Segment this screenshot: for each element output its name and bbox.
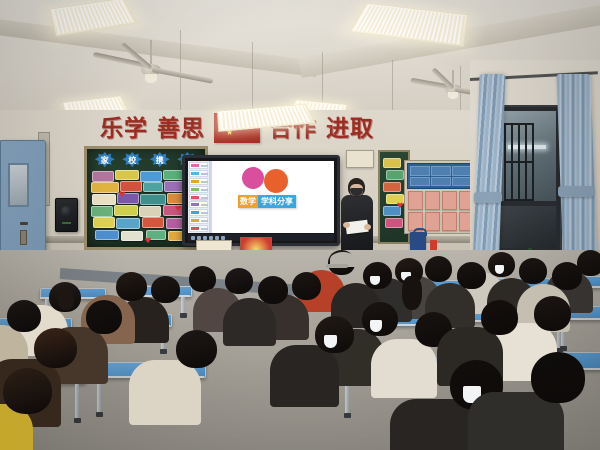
- slide-thumbnail[interactable]: [189, 178, 208, 185]
- speaker-indicator: [62, 222, 71, 224]
- ponytail-audience-member: [58, 286, 76, 312]
- audience-head: [176, 330, 217, 368]
- board-card: [93, 217, 115, 228]
- audience-member: [510, 352, 600, 450]
- slide-thumbnail[interactable]: [189, 209, 208, 216]
- slide-thumbnail[interactable]: [189, 162, 208, 169]
- face-mask: [324, 335, 337, 348]
- audience-torso: [371, 339, 437, 398]
- curtain-tieback[interactable]: [558, 186, 594, 197]
- board-card: [139, 206, 161, 217]
- board-card: [140, 171, 162, 182]
- hair-ponytail: [402, 276, 422, 310]
- bag-handle: [413, 228, 427, 236]
- board-card: [92, 171, 114, 182]
- classroom-photo: 乐学 善思 ★ ★ ★ ★ ★ 合作 进取 家 校 携 手: [0, 0, 600, 450]
- face-mask: [495, 265, 504, 274]
- door-window: [8, 163, 29, 207]
- hair-ponytail: [58, 286, 74, 310]
- fan-light: [448, 92, 458, 99]
- whiteboard-display[interactable]: 数学 学科分享: [188, 161, 334, 233]
- audience-head: [3, 368, 52, 414]
- ceiling-seam: [252, 42, 253, 118]
- audience-torso: [270, 345, 339, 407]
- slide-decor-circle-orange: [264, 169, 288, 193]
- slide-thumbnail-rail[interactable]: [188, 161, 210, 233]
- slogan-word-1: 乐学: [100, 117, 148, 140]
- door-handle[interactable]: [20, 222, 28, 225]
- slide-decor-circle-pink: [242, 167, 264, 189]
- audience-head: [552, 262, 582, 290]
- info-document-sheet: [425, 191, 440, 210]
- audience-head: [481, 300, 518, 335]
- decor-card: [383, 206, 401, 216]
- slide-thumbnail[interactable]: [189, 194, 208, 201]
- audience-head: [534, 296, 571, 331]
- info-header-cell: [452, 177, 472, 187]
- board-title-char-2: 校: [122, 152, 142, 168]
- speaker-driver: [61, 206, 72, 217]
- taskbar-icon[interactable]: [191, 236, 195, 240]
- board-card: [120, 181, 142, 192]
- audience-member: [160, 330, 232, 433]
- fan-rod: [150, 40, 152, 66]
- info-document-sheet: [425, 212, 440, 231]
- slide-title-subject: 数学: [238, 195, 258, 208]
- window-security-bars: [504, 123, 534, 201]
- desk-foot: [96, 412, 103, 417]
- window-pane: [498, 111, 556, 201]
- taskbar-icon[interactable]: [203, 236, 207, 240]
- notice-poster: [346, 150, 374, 168]
- slide-thumbnail[interactable]: [189, 217, 208, 224]
- capped-audience-member: [330, 252, 358, 272]
- audience-member: [0, 368, 71, 450]
- info-header-cell: [410, 166, 430, 176]
- info-document-sheet: [442, 191, 457, 210]
- info-header-cell: [431, 177, 451, 187]
- board-title-char-3: 携: [150, 152, 170, 168]
- curtain-tieback[interactable]: [474, 192, 502, 203]
- info-header-cell: [452, 166, 472, 176]
- info-header-cell: [431, 166, 451, 176]
- audience-member: [300, 316, 369, 415]
- presenter-hand: [343, 222, 350, 228]
- slide-title: 数学 学科分享: [238, 195, 296, 208]
- board-card: [140, 194, 166, 205]
- board-card: [114, 205, 138, 216]
- board-card: [95, 230, 119, 240]
- info-header-cell: [410, 177, 430, 187]
- slide-thumbnail[interactable]: [189, 225, 208, 232]
- info-document-sheet: [408, 191, 423, 210]
- decor-card: [386, 170, 404, 180]
- decor-card: [385, 218, 403, 228]
- ponytail-audience-member: [402, 276, 424, 312]
- class-information-board: [404, 160, 478, 234]
- cap-brim: [326, 264, 348, 268]
- slide-thumbnail[interactable]: [189, 186, 208, 193]
- board-card: [115, 170, 139, 180]
- presenter-hand: [364, 224, 371, 230]
- audience-member: [246, 276, 299, 352]
- door-lock[interactable]: [20, 230, 27, 245]
- interactive-whiteboard[interactable]: 数学 学科分享: [182, 155, 340, 246]
- audience-head: [531, 352, 585, 403]
- board-card: [92, 194, 116, 205]
- info-document-grid: [408, 191, 474, 231]
- taskbar-icon[interactable]: [215, 236, 219, 240]
- audience-head: [457, 262, 486, 289]
- board-card: [143, 182, 163, 192]
- slogan-word-4: 进取: [326, 117, 374, 140]
- presenting-teacher: [339, 178, 375, 250]
- curtain-right[interactable]: [557, 74, 598, 274]
- slide-title-topic: 学科分享: [258, 195, 296, 208]
- fan-light: [145, 74, 157, 83]
- taskbar-icon[interactable]: [209, 236, 213, 240]
- board-card: [91, 182, 119, 193]
- board-card: [116, 218, 140, 229]
- slide-thumbnail[interactable]: [189, 201, 208, 208]
- taskbar-icon[interactable]: [221, 236, 225, 240]
- current-slide: 数学 学科分享: [210, 161, 334, 233]
- face-mask: [370, 320, 382, 332]
- window-lower-pane: [498, 206, 556, 248]
- taskbar-icon[interactable]: [197, 236, 201, 240]
- board-title-char-1: 家: [95, 152, 115, 168]
- audience-head: [34, 328, 77, 368]
- wall-speaker: [55, 198, 78, 232]
- decor-card: [386, 194, 404, 204]
- board-card: [142, 217, 164, 228]
- audience-head: [116, 272, 147, 301]
- slogan-word-2: 善思: [157, 117, 205, 140]
- wall-hanging-bag: [410, 232, 426, 252]
- decor-card: [383, 158, 401, 168]
- board-card: [121, 231, 143, 241]
- audience-torso: [129, 360, 201, 425]
- info-document-sheet: [442, 212, 457, 231]
- slide-thumbnail[interactable]: [189, 170, 208, 177]
- board-card: [91, 206, 113, 217]
- info-header-panel: [407, 163, 475, 189]
- audience-head: [258, 276, 288, 304]
- decor-card: [383, 182, 401, 192]
